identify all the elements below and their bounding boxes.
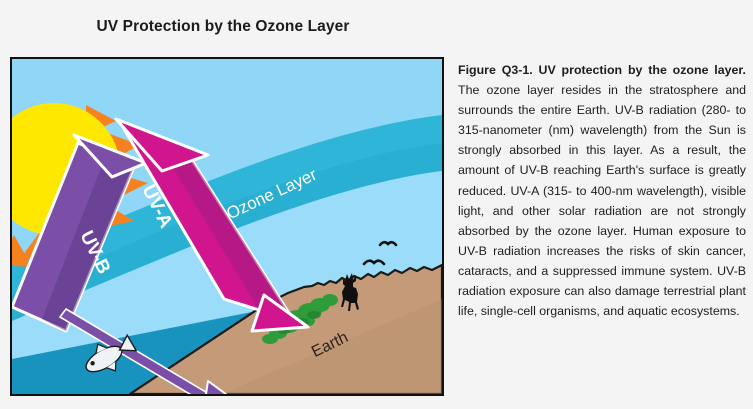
caption-lead: Figure Q3-1. UV protection by the ozone … xyxy=(458,63,746,77)
page-title: UV Protection by the Ozone Layer xyxy=(8,18,438,36)
figure-caption: Figure Q3-1. UV protection by the ozone … xyxy=(458,60,746,321)
figure-page: UV Protection by the Ozone Layer xyxy=(0,0,753,409)
ozone-diagram: UV-B UV-A Ozone Layer Earth xyxy=(12,59,442,394)
figure-illustration-panel: UV-B UV-A Ozone Layer Earth xyxy=(10,57,444,396)
caption-body: The ozone layer resides in the stratosph… xyxy=(458,83,746,318)
